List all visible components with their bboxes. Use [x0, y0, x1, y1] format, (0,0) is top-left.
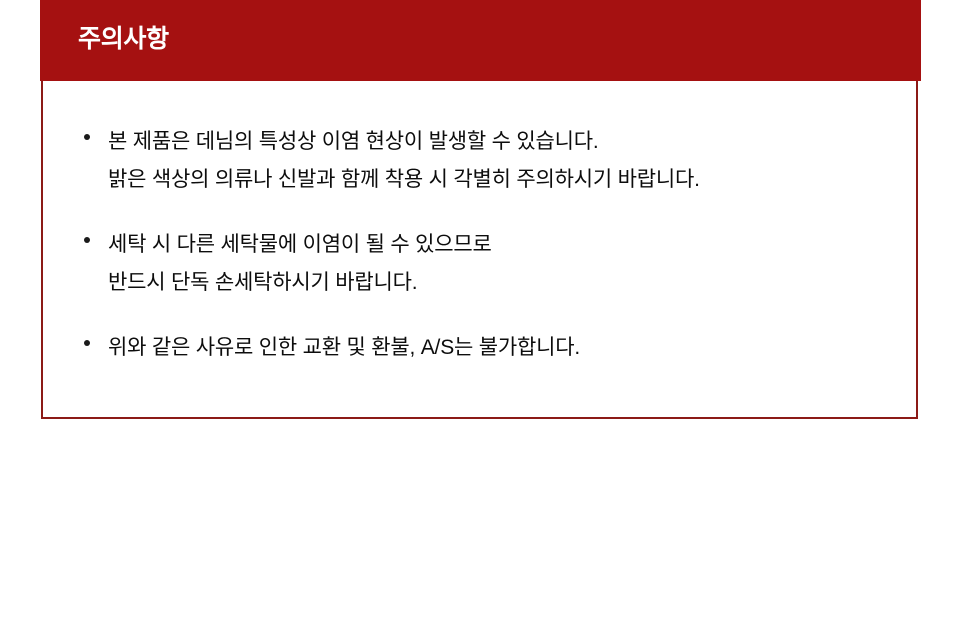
list-item: 본 제품은 데님의 특성상 이염 현상이 발생할 수 있습니다.밝은 색상의 의…: [81, 123, 906, 199]
precautions-body-box: 본 제품은 데님의 특성상 이염 현상이 발생할 수 있습니다.밝은 색상의 의…: [41, 81, 918, 419]
precautions-header-band: 주의사항: [40, 0, 921, 81]
bullet-icon: [84, 237, 90, 243]
bullet-icon: [84, 340, 90, 346]
bullet-icon: [84, 134, 90, 140]
list-item-line: 밝은 색상의 의류나 신발과 함께 착용 시 각별히 주의하시기 바랍니다.: [108, 161, 906, 199]
list-item: 세탁 시 다른 세탁물에 이염이 될 수 있으므로반드시 단독 손세탁하시기 바…: [81, 226, 906, 302]
precautions-panel: 주의사항 본 제품은 데님의 특성상 이염 현상이 발생할 수 있습니다.밝은 …: [40, 0, 921, 419]
list-item-line: 위와 같은 사유로 인한 교환 및 환불, A/S는 불가합니다.: [108, 329, 906, 367]
precautions-list: 본 제품은 데님의 특성상 이염 현상이 발생할 수 있습니다.밝은 색상의 의…: [81, 123, 906, 367]
list-item-line: 세탁 시 다른 세탁물에 이염이 될 수 있으므로: [108, 226, 906, 264]
list-item-line: 반드시 단독 손세탁하시기 바랍니다.: [108, 264, 906, 302]
list-item-line: 본 제품은 데님의 특성상 이염 현상이 발생할 수 있습니다.: [108, 123, 906, 161]
list-item: 위와 같은 사유로 인한 교환 및 환불, A/S는 불가합니다.: [81, 329, 906, 367]
page-title: 주의사항: [78, 22, 169, 56]
